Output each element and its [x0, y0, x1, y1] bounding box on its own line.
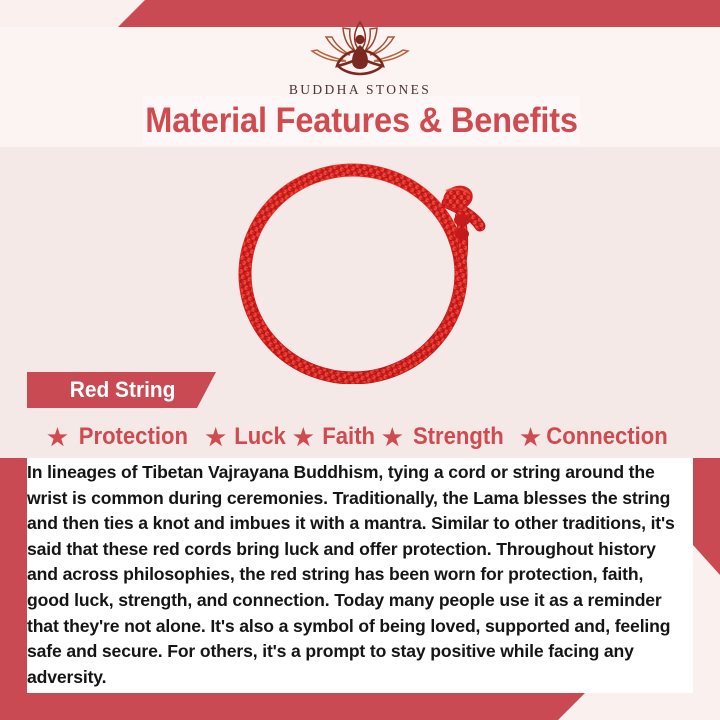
star-icon: ★	[47, 426, 68, 449]
benefits-list: ★ Protection ★ Luck ★ Faith ★ Strength ★…	[27, 420, 693, 454]
star-icon: ★	[293, 426, 314, 449]
benefit-label: Strength	[413, 423, 504, 451]
benefit-item: ★ Faith	[293, 423, 377, 451]
benefit-item: ★ Connection	[520, 423, 673, 451]
benefit-item: ★ Luck	[205, 423, 288, 451]
frame-band-bottom	[0, 693, 720, 720]
product-name-label: Red String	[31, 377, 176, 403]
benefit-item: ★ Protection	[47, 423, 192, 451]
product-name-ribbon: Red String	[27, 372, 216, 408]
benefit-item: ★ Strength	[382, 423, 507, 451]
title-banner: Material Features & Benefits	[143, 96, 580, 145]
star-icon: ★	[205, 426, 226, 449]
page-title: Material Features & Benefits	[145, 101, 578, 141]
lotus-meditation-icon	[307, 18, 413, 80]
brand-logo: BUDDHA STONES	[0, 18, 720, 98]
benefit-label: Protection	[78, 423, 187, 451]
star-icon: ★	[520, 426, 541, 449]
star-icon: ★	[382, 426, 403, 449]
benefit-label: Luck	[234, 423, 286, 451]
red-braided-string-bracelet	[232, 158, 498, 384]
benefit-label: Faith	[322, 423, 375, 451]
benefit-label: Connection	[546, 423, 667, 451]
description-text: In lineages of Tibetan Vajrayana Buddhis…	[27, 460, 693, 690]
